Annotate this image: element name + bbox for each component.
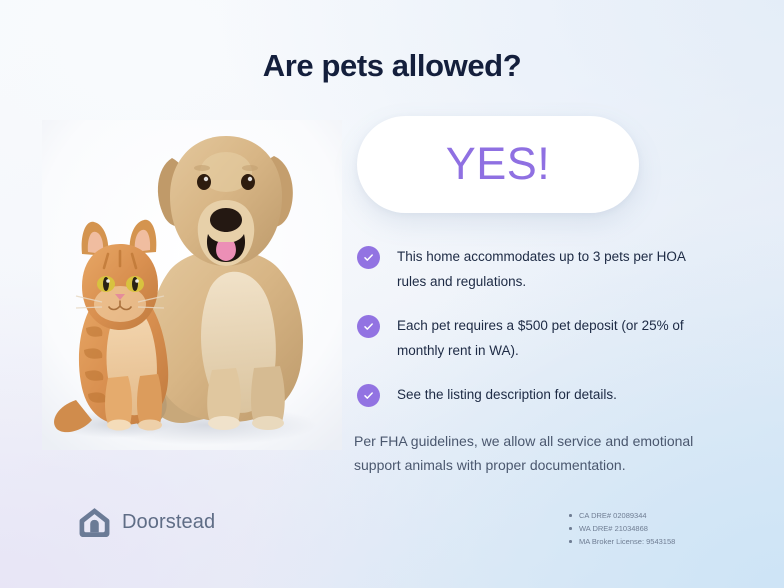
list-item: See the listing description for details. [357, 383, 697, 408]
list-item: This home accommodates up to 3 pets per … [357, 245, 697, 294]
list-item-label: Each pet requires a $500 pet deposit (or… [397, 314, 697, 363]
check-circle-icon [357, 384, 380, 407]
license-item: CA DRE# 02089344 [568, 509, 675, 522]
license-list: CA DRE# 02089344 WA DRE# 21034868 MA Bro… [568, 509, 675, 548]
pets-policy-slide: Are pets allowed? [0, 0, 784, 588]
fha-note: Per FHA guidelines, we allow all service… [354, 429, 739, 477]
list-item-label: This home accommodates up to 3 pets per … [397, 245, 697, 294]
house-logo-icon [78, 506, 111, 539]
brand-name: Doorstead [122, 511, 215, 534]
pet-policy-list: This home accommodates up to 3 pets per … [357, 245, 697, 408]
check-circle-icon [357, 246, 380, 269]
answer-label: YES! [446, 141, 551, 189]
answer-card: YES! [357, 116, 639, 213]
license-item: MA Broker License: 9543158 [568, 535, 675, 548]
doorstead-logo: Doorstead [78, 506, 215, 539]
check-circle-icon [357, 315, 380, 338]
list-item: Each pet requires a $500 pet deposit (or… [357, 314, 697, 363]
pets-photo [42, 120, 342, 450]
list-item-label: See the listing description for details. [397, 383, 617, 408]
page-title: Are pets allowed? [0, 48, 784, 84]
license-item: WA DRE# 21034868 [568, 522, 675, 535]
